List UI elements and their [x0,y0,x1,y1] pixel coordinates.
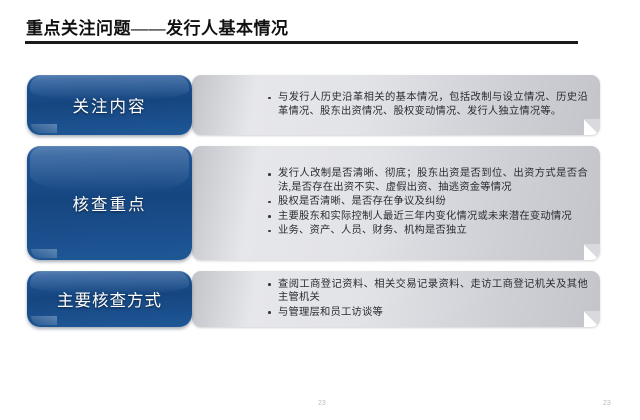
list-item: 业务、资产、人员、财务、机构是否独立 [267,224,588,237]
bullet-list-1: 与发行人历史沿革相关的基本情况，包括改制与设立情况、历史沿革情况、股东出资情况、… [267,91,588,119]
content-panel-2: 发行人改制是否清晰、彻底；股东出资是否到位、出资方式是否合法,是否存在出资不实、… [192,146,600,260]
page-number-right: 23 [603,400,611,407]
list-item: 与发行人历史沿革相关的基本情况，包括改制与设立情况、历史沿革情况、股东出资情况、… [267,91,588,118]
page-number-center: 23 [318,400,326,407]
content-panel-1: 与发行人历史沿革相关的基本情况，包括改制与设立情况、历史沿革情况、股东出资情况、… [192,75,600,135]
category-button-2[interactable]: 核查重点 [27,146,192,260]
list-item: 主要股东和实际控制人最近三年内变化情况或未来潜在变动情况 [267,210,588,223]
content-row-3: 查阅工商登记资料、相关交易记录资料、走访工商登记机关及其他主管机关 与管理层和员… [27,271,573,327]
slide-canvas: 重点关注问题――发行人基本情况 与发行人历史沿革相关的基本情况，包括改制与设立情… [0,0,640,420]
list-item: 发行人改制是否清晰、彻底；股东出资是否到位、出资方式是否合法,是否存在出资不实、… [267,167,588,194]
category-label-2: 核查重点 [73,191,147,215]
category-label-1: 关注内容 [73,93,147,117]
list-item: 与管理层和员工访谈等 [267,306,588,319]
list-item: 查阅工商登记资料、相关交易记录资料、走访工商登记机关及其他主管机关 [267,278,588,305]
content-panel-3: 查阅工商登记资料、相关交易记录资料、走访工商登记机关及其他主管机关 与管理层和员… [192,271,600,327]
content-row-1: 与发行人历史沿革相关的基本情况，包括改制与设立情况、历史沿革情况、股东出资情况、… [27,75,573,135]
title-underline-rule [25,41,578,44]
page-title: 重点关注问题――发行人基本情况 [26,14,289,39]
category-button-1[interactable]: 关注内容 [27,75,192,135]
list-item: 股权是否清晰、是否存在争议及纠纷 [267,195,588,208]
content-row-2: 发行人改制是否清晰、彻底；股东出资是否到位、出资方式是否合法,是否存在出资不实、… [27,146,573,260]
category-label-3: 主要核查方式 [57,287,162,311]
bullet-list-2: 发行人改制是否清晰、彻底；股东出资是否到位、出资方式是否合法,是否存在出资不实、… [267,167,588,238]
category-button-3[interactable]: 主要核查方式 [27,271,192,327]
bullet-list-3: 查阅工商登记资料、相关交易记录资料、走访工商登记机关及其他主管机关 与管理层和员… [267,278,588,320]
